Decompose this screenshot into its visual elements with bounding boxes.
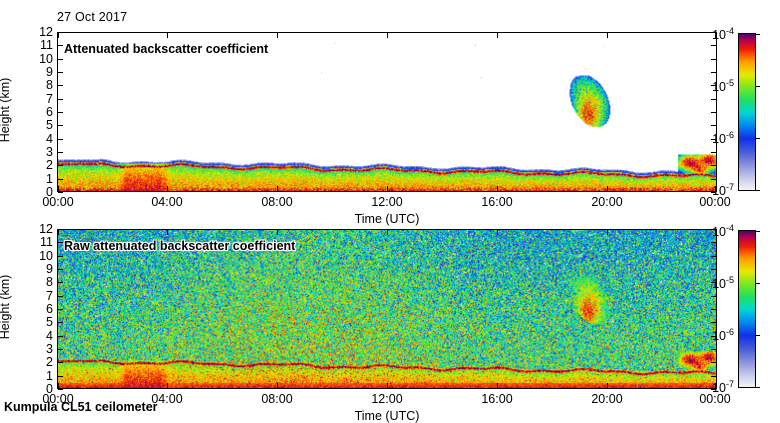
y-axis-tick-right: [711, 152, 716, 153]
colorbar-tick: [756, 335, 760, 336]
y-axis-tick-label: 4: [21, 329, 53, 343]
y-axis-tick-right: [711, 362, 716, 363]
y-axis-tick: [58, 125, 63, 126]
y-axis-tick-right: [711, 125, 716, 126]
x-axis-tick-label: 12:00: [371, 195, 402, 209]
x-axis-tick-top: [58, 230, 59, 235]
colorbar-tick: [756, 86, 760, 87]
y-axis-tick: [58, 85, 63, 86]
y-axis-tick-right: [711, 309, 716, 310]
x-axis-title: Time (UTC): [355, 409, 420, 423]
x-axis-tick-top: [497, 33, 498, 38]
y-axis-tick: [58, 256, 63, 257]
x-axis-tick-top: [497, 230, 498, 235]
colorbar-tick: [756, 283, 760, 284]
y-axis-tick: [58, 192, 63, 193]
y-axis-tick: [58, 139, 63, 140]
x-axis-tick-label: 12:00: [371, 392, 402, 406]
y-axis-tick-label: 11: [21, 235, 53, 249]
x-axis-tick-top: [607, 230, 608, 235]
y-axis-tick-label: 1: [21, 369, 53, 383]
x-axis-tick-label: 16:00: [481, 392, 512, 406]
colorbar-tick-label: 10-4: [690, 26, 734, 42]
y-axis-tick: [58, 322, 63, 323]
panel-label-top: Attenuated backscatter coefficient: [64, 42, 268, 56]
x-axis-tick-label: 04:00: [151, 195, 182, 209]
x-axis-tick: [277, 383, 278, 388]
y-axis-tick-label: 9: [21, 65, 53, 79]
y-axis-tick: [58, 282, 63, 283]
x-axis-tick: [277, 186, 278, 191]
y-axis-tick: [58, 349, 63, 350]
y-axis-tick-right: [711, 242, 716, 243]
y-axis-tick: [58, 72, 63, 73]
x-axis-tick-label: 16:00: [481, 195, 512, 209]
y-axis-tick-label: 3: [21, 342, 53, 356]
y-axis-tick-right: [711, 269, 716, 270]
y-axis-tick-label: 2: [21, 158, 53, 172]
y-axis-tick-right: [711, 349, 716, 350]
y-axis-tick-right: [711, 322, 716, 323]
y-axis-tick: [58, 59, 63, 60]
y-axis-tick-label: 8: [21, 275, 53, 289]
y-axis-tick: [58, 99, 63, 100]
panel-attenuated-backscatter: Attenuated backscatter coefficient: [57, 32, 717, 192]
y-axis-tick-label: 7: [21, 92, 53, 106]
y-axis-tick-right: [711, 112, 716, 113]
y-axis-tick: [58, 389, 63, 390]
y-axis-tick: [58, 296, 63, 297]
x-axis-tick-top: [167, 230, 168, 235]
colorbar-tick-label: 10-7: [690, 182, 734, 198]
x-axis-tick: [387, 383, 388, 388]
y-axis-tick-right: [711, 179, 716, 180]
heatmap-top: [58, 33, 716, 191]
x-axis-tick: [607, 186, 608, 191]
y-axis-tick: [58, 309, 63, 310]
y-axis-tick-label: 10: [21, 52, 53, 66]
heatmap-bottom: [58, 230, 716, 388]
x-axis-tick: [497, 186, 498, 191]
y-axis-tick-label: 1: [21, 172, 53, 186]
footer-instrument-label: Kumpula CL51 ceilometer: [4, 400, 158, 414]
figure-canvas: 27 Oct 2017 Attenuated backscatter coeff…: [0, 0, 780, 420]
y-axis-tick-label: 12: [21, 222, 53, 236]
y-axis-tick: [58, 165, 63, 166]
colorbar-tick: [756, 138, 760, 139]
x-axis-tick-top: [387, 33, 388, 38]
x-axis-tick-top: [58, 33, 59, 38]
colorbar-tick-label: 10-7: [690, 379, 734, 395]
x-axis-tick-top: [277, 230, 278, 235]
y-axis-tick: [58, 242, 63, 243]
x-axis-tick: [607, 383, 608, 388]
panel-raw-attenuated-backscatter: Raw attenuated backscatter coefficient: [57, 229, 717, 389]
x-axis-tick: [58, 186, 59, 191]
y-axis-tick-label: 8: [21, 78, 53, 92]
x-axis-tick-label: 20:00: [591, 392, 622, 406]
y-axis-tick-right: [711, 256, 716, 257]
y-axis-tick-label: 12: [21, 25, 53, 39]
colorbar-tick: [756, 190, 760, 191]
y-axis-tick: [58, 112, 63, 113]
y-axis-tick-label: 9: [21, 262, 53, 276]
x-axis-tick: [387, 186, 388, 191]
y-axis-title: Height (km): [0, 70, 12, 150]
colorbar-tick: [756, 387, 760, 388]
x-axis-tick-top: [277, 33, 278, 38]
panel-label-bottom: Raw attenuated backscatter coefficient: [64, 239, 295, 253]
y-axis-tick: [58, 179, 63, 180]
colorbar-tick: [756, 34, 760, 35]
y-axis-tick-label: 10: [21, 249, 53, 263]
colorbar-tick-label: 10-6: [690, 327, 734, 343]
x-axis-tick-top: [387, 230, 388, 235]
y-axis-tick-right: [711, 59, 716, 60]
x-axis-tick: [167, 383, 168, 388]
y-axis-tick-right: [711, 99, 716, 100]
y-axis-title: Height (km): [0, 267, 12, 347]
y-axis-tick: [58, 336, 63, 337]
y-axis-tick-right: [711, 376, 716, 377]
y-axis-tick-label: 6: [21, 302, 53, 316]
y-axis-tick-right: [711, 72, 716, 73]
y-axis-tick-label: 2: [21, 355, 53, 369]
y-axis-tick: [58, 362, 63, 363]
y-axis-tick-label: 5: [21, 315, 53, 329]
y-axis-tick-label: 7: [21, 289, 53, 303]
x-axis-tick: [497, 383, 498, 388]
colorbar-tick-label: 10-5: [690, 78, 734, 94]
y-axis-tick-right: [711, 165, 716, 166]
y-axis-tick-label: 11: [21, 38, 53, 52]
y-axis-tick: [58, 45, 63, 46]
x-axis-tick-label: 00:00: [42, 195, 73, 209]
x-axis-title: Time (UTC): [355, 212, 420, 226]
colorbar-tick: [756, 231, 760, 232]
date-title: 27 Oct 2017: [57, 10, 127, 24]
colorbar-top: [738, 33, 756, 191]
x-axis-tick-label: 08:00: [261, 195, 292, 209]
x-axis-tick: [167, 186, 168, 191]
x-axis-tick-label: 20:00: [591, 195, 622, 209]
x-axis-tick-label: 08:00: [261, 392, 292, 406]
x-axis-tick-top: [607, 33, 608, 38]
y-axis-tick-label: 3: [21, 145, 53, 159]
y-axis-tick-right: [711, 296, 716, 297]
colorbar-bottom: [738, 230, 756, 388]
y-axis-tick-label: 4: [21, 132, 53, 146]
colorbar-tick-label: 10-4: [690, 223, 734, 239]
colorbar-tick-label: 10-5: [690, 275, 734, 291]
y-axis-tick: [58, 376, 63, 377]
y-axis-tick: [58, 152, 63, 153]
x-axis-tick-top: [167, 33, 168, 38]
y-axis-tick-label: 5: [21, 118, 53, 132]
y-axis-tick-right: [711, 45, 716, 46]
y-axis-tick: [58, 269, 63, 270]
colorbar-tick-label: 10-6: [690, 130, 734, 146]
x-axis-tick: [58, 383, 59, 388]
y-axis-tick-label: 6: [21, 105, 53, 119]
